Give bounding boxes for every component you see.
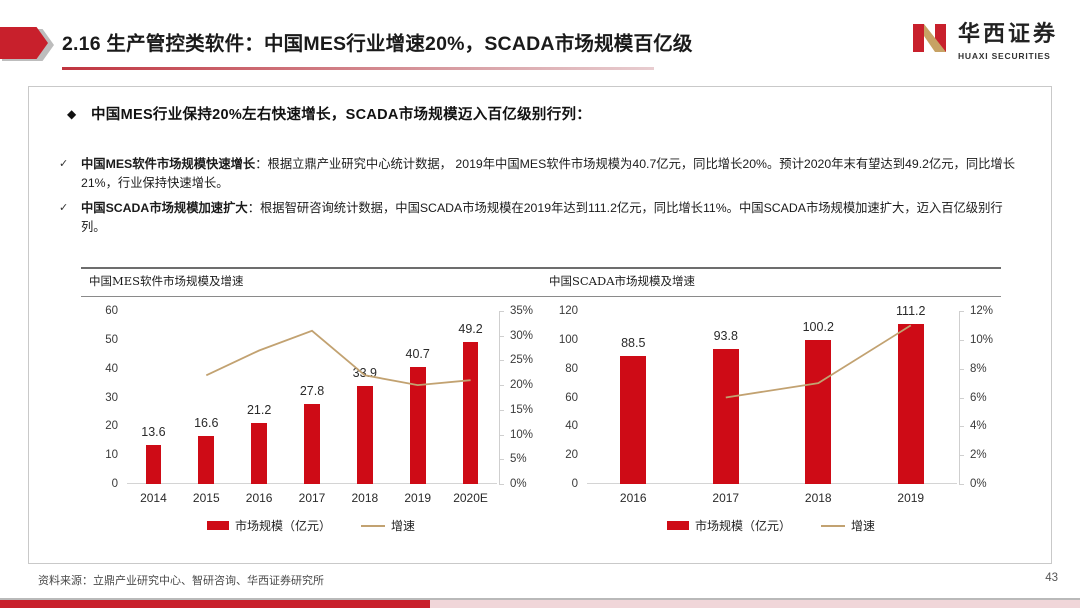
y-axis-tick: 60 <box>105 305 118 317</box>
chart-title-mes: 中国MES软件市场规模及增速 <box>89 273 244 289</box>
footer-bar-light <box>430 600 1080 608</box>
y2-axis-tickmark <box>959 311 964 312</box>
y2-axis-tick: 5% <box>510 453 527 465</box>
legend-bar-swatch-icon <box>207 521 229 530</box>
x-axis-tick: 2018 <box>805 491 832 505</box>
bullet-point-scada: ✓ 中国SCADA市场规模加速扩大：根据智研咨询统计数据，中国SCADA市场规模… <box>59 199 1024 238</box>
y2-axis-tick: 2% <box>970 449 987 461</box>
legend-bar-label: 市场规模（亿元） <box>695 517 791 534</box>
y-axis-tick: 50 <box>105 334 118 346</box>
y-axis-tick: 30 <box>105 392 118 404</box>
y2-axis-tick: 25% <box>510 354 533 366</box>
chart-title-scada: 中国SCADA市场规模及增速 <box>549 273 695 289</box>
plot-area-mes: 01020304050600%5%10%15%20%25%30%35%13.62… <box>81 305 541 510</box>
logo-text-cn: 华西证券 <box>958 16 1058 48</box>
x-axis-tick: 2016 <box>246 491 273 505</box>
chart-panel-mes: 中国MES软件市场规模及增速 01020304050600%5%10%15%20… <box>81 267 541 550</box>
x-axis-tick: 2018 <box>351 491 378 505</box>
legend-item-bar: 市场规模（亿元） <box>667 517 791 534</box>
y2-axis-tick: 20% <box>510 379 533 391</box>
page-title: 2.16 生产管控类软件：中国MES行业增速20%，SCADA市场规模百亿级 <box>62 27 693 56</box>
content-card: ◆ 中国MES行业保持20%左右快速增长，SCADA市场规模迈入百亿级别行列： … <box>28 86 1052 564</box>
bullet-heading: 中国MES软件市场规模快速增长 <box>81 157 255 171</box>
legend-bar-label: 市场规模（亿元） <box>235 517 331 534</box>
panel-divider-title <box>541 296 1001 297</box>
y-axis-tick: 10 <box>105 449 118 461</box>
y2-axis-tickmark <box>499 435 504 436</box>
y2-axis-tick: 10% <box>970 334 993 346</box>
legend-line-label: 增速 <box>851 517 875 534</box>
x-axis-tick: 2017 <box>712 491 739 505</box>
panel-divider-top <box>81 267 541 269</box>
y2-axis-tick: 6% <box>970 392 987 404</box>
growth-rate-line <box>127 311 497 484</box>
secondary-axis-line <box>499 311 500 484</box>
y-axis-tick: 40 <box>105 363 118 375</box>
chart-legend-scada: 市场规模（亿元） 增速 <box>541 517 1001 534</box>
y2-axis-tick: 0% <box>970 478 987 490</box>
logo-text-en: HUAXI SECURITIES <box>958 51 1058 61</box>
legend-item-bar: 市场规模（亿元） <box>207 517 331 534</box>
y2-axis-tickmark <box>959 340 964 341</box>
y2-axis-tick: 10% <box>510 429 533 441</box>
title-underline <box>62 67 654 70</box>
y2-axis-tick: 0% <box>510 478 527 490</box>
chart-panel-scada: 中国SCADA市场规模及增速 0204060801001200%2%4%6%8%… <box>541 267 1001 550</box>
y-axis-tick: 40 <box>565 420 578 432</box>
y-axis-tick: 120 <box>559 305 578 317</box>
brand-logo: 华西证券 HUAXI SECURITIES <box>911 14 1058 62</box>
x-axis-tick: 2020E <box>453 491 488 505</box>
panel-divider-title <box>81 296 541 297</box>
y2-axis-tickmark <box>499 484 504 485</box>
legend-item-line: 增速 <box>361 517 415 534</box>
bullet-point-mes: ✓ 中国MES软件市场规模快速增长：根据立鼎产业研究中心统计数据， 2019年中… <box>59 155 1024 194</box>
y-axis-tick: 60 <box>565 392 578 404</box>
y-axis-tick: 100 <box>559 334 578 346</box>
panel-divider-top <box>541 267 1001 269</box>
slide-header: 2.16 生产管控类软件：中国MES行业增速20%，SCADA市场规模百亿级 华… <box>0 0 1080 82</box>
y-axis-tick: 80 <box>565 363 578 375</box>
y2-axis-tickmark <box>959 398 964 399</box>
footer-bar-accent <box>0 600 430 608</box>
x-axis-tick: 2019 <box>897 491 924 505</box>
y2-axis-tickmark <box>499 360 504 361</box>
y-axis-tick: 0 <box>572 478 578 490</box>
lead-statement: 中国MES行业保持20%左右快速增长，SCADA市场规模迈入百亿级别行列： <box>91 103 591 124</box>
y2-axis-tickmark <box>959 426 964 427</box>
plot-area-scada: 0204060801001200%2%4%6%8%10%12%88.520169… <box>541 305 1001 510</box>
y2-axis-tickmark <box>959 455 964 456</box>
diamond-bullet-icon: ◆ <box>67 107 76 121</box>
y2-axis-tick: 15% <box>510 404 533 416</box>
y2-axis-tickmark <box>499 385 504 386</box>
page-number: 43 <box>1045 572 1058 584</box>
x-axis-tick: 2016 <box>620 491 647 505</box>
y-axis-tick: 20 <box>105 420 118 432</box>
x-axis-tick: 2017 <box>299 491 326 505</box>
y2-axis-tickmark <box>499 336 504 337</box>
y2-axis-tick: 12% <box>970 305 993 317</box>
y2-axis-tick: 35% <box>510 305 533 317</box>
check-icon: ✓ <box>59 156 68 173</box>
logo-mark-icon <box>911 18 949 58</box>
legend-item-line: 增速 <box>821 517 875 534</box>
y2-axis-tick: 8% <box>970 363 987 375</box>
chart-legend-mes: 市场规模（亿元） 增速 <box>81 517 541 534</box>
source-note: 资料来源：立鼎产业研究中心、智研咨询、华西证券研究所 <box>38 572 324 588</box>
legend-line-swatch-icon <box>821 525 845 527</box>
legend-line-label: 增速 <box>391 517 415 534</box>
legend-bar-swatch-icon <box>667 521 689 530</box>
y2-axis-tick: 4% <box>970 420 987 432</box>
legend-line-swatch-icon <box>361 525 385 527</box>
y2-axis-tick: 30% <box>510 330 533 342</box>
y2-axis-tickmark <box>959 369 964 370</box>
y2-axis-tickmark <box>959 484 964 485</box>
x-axis-tick: 2015 <box>193 491 220 505</box>
y-axis-tick: 20 <box>565 449 578 461</box>
check-icon: ✓ <box>59 200 68 217</box>
bullet-heading: 中国SCADA市场规模加速扩大 <box>81 201 248 215</box>
x-axis-tick: 2019 <box>404 491 431 505</box>
y2-axis-tickmark <box>499 311 504 312</box>
growth-rate-line <box>587 311 957 484</box>
y-axis-tick: 0 <box>112 478 118 490</box>
x-axis-tick: 2014 <box>140 491 167 505</box>
y2-axis-tickmark <box>499 459 504 460</box>
y2-axis-tickmark <box>499 410 504 411</box>
slide: 2.16 生产管控类软件：中国MES行业增速20%，SCADA市场规模百亿级 华… <box>0 0 1080 608</box>
